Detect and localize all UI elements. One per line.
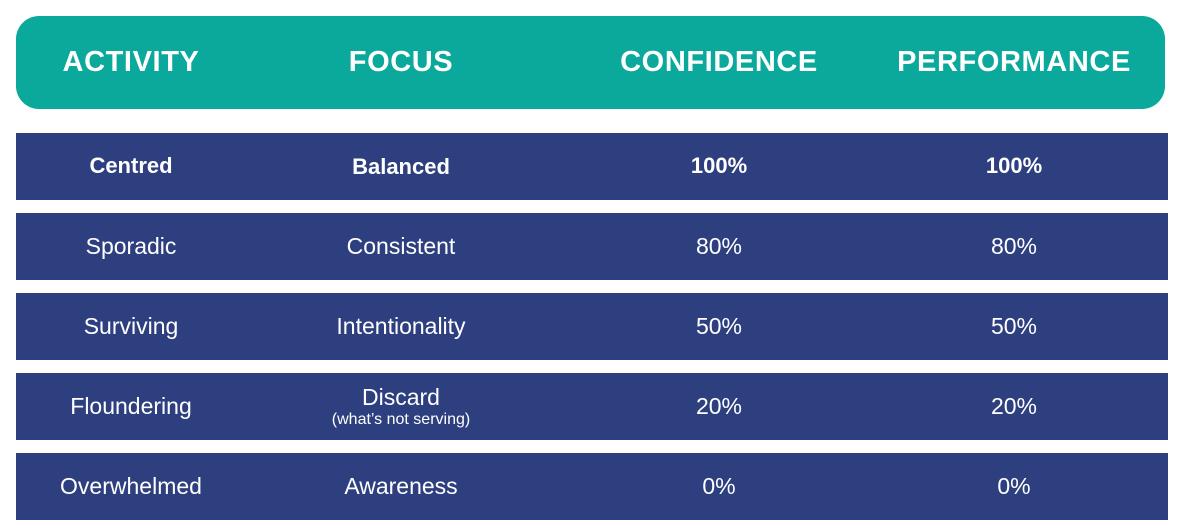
cell-focus-main: Balanced [352, 155, 450, 179]
cell-performance: 50% [869, 314, 1159, 340]
cell-confidence: 80% [569, 234, 869, 260]
cell-focus: Consistent [261, 234, 541, 259]
activity-focus-table: ACTIVITY FOCUS CONFIDENCE PERFORMANCE Ce… [0, 0, 1183, 532]
cell-focus: Awareness [261, 474, 541, 499]
cell-performance: 80% [869, 234, 1159, 260]
table-header-row: ACTIVITY FOCUS CONFIDENCE PERFORMANCE [16, 16, 1165, 109]
cell-activity: Centred [16, 154, 246, 179]
cell-activity: Surviving [16, 314, 246, 340]
cell-focus-main: Intentionality [336, 314, 465, 339]
cell-activity: Sporadic [16, 234, 246, 260]
cell-confidence: 20% [569, 394, 869, 420]
column-header-confidence: CONFIDENCE [569, 48, 869, 77]
cell-focus-subtext: (what’s not serving) [332, 411, 470, 428]
table-row: Overwhelmed Awareness 0% 0% [16, 453, 1168, 520]
table-row: Centred Balanced 100% 100% [16, 133, 1168, 200]
cell-confidence: 100% [569, 154, 869, 179]
cell-focus: Intentionality [261, 314, 541, 339]
cell-focus-main: Awareness [344, 474, 457, 499]
table-row: Surviving Intentionality 50% 50% [16, 293, 1168, 360]
column-header-activity: ACTIVITY [16, 48, 246, 77]
cell-performance: 20% [869, 394, 1159, 420]
table-row: Floundering Discard (what’s not serving)… [16, 373, 1168, 440]
table-row: Sporadic Consistent 80% 80% [16, 213, 1168, 280]
table-body: Centred Balanced 100% 100% Sporadic Cons… [16, 133, 1168, 520]
cell-performance: 0% [869, 474, 1159, 500]
cell-confidence: 50% [569, 314, 869, 340]
cell-activity: Floundering [16, 394, 246, 420]
cell-focus: Discard (what’s not serving) [261, 385, 541, 428]
column-header-performance: PERFORMANCE [869, 48, 1159, 77]
cell-focus-main: Consistent [347, 234, 456, 259]
cell-activity: Overwhelmed [16, 474, 246, 500]
column-header-focus: FOCUS [261, 48, 541, 77]
cell-performance: 100% [869, 154, 1159, 179]
cell-focus: Balanced [261, 155, 541, 179]
cell-confidence: 0% [569, 474, 869, 500]
cell-focus-main: Discard [362, 385, 440, 410]
